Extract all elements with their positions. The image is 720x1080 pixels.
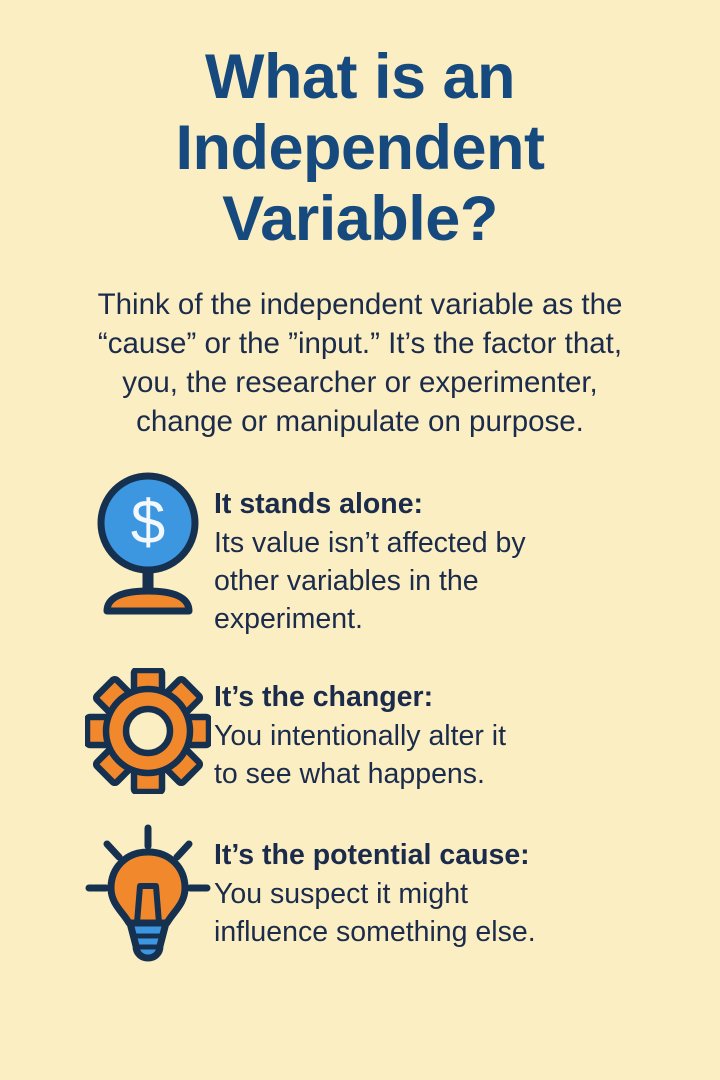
svg-text:$: $ [131,489,165,558]
bullet-body-line: You suspect it might [214,875,700,913]
bullet-body-line: other variables in the [214,562,700,600]
infographic-poster: What is an Independent Variable? Think o… [0,0,720,1080]
list-item: It’s the potential cause: You suspect it… [0,824,720,966]
lightbulb-icon [82,824,214,966]
intro-line-3: you, the researcher or experimenter, [44,363,676,402]
intro-paragraph: Think of the independent variable as the… [0,285,720,441]
title-line-3: Variable? [0,184,720,255]
bullet-heading: It’s the potential cause: [214,836,700,874]
intro-line-1: Think of the independent variable as the [44,285,676,324]
dollar-sign-stand-icon: $ [82,471,214,623]
list-item: $ It stands alone: Its value isn’t affec… [0,471,720,638]
intro-line-2: “cause” or the ”input.” It’s the factor … [44,324,676,363]
bullet-body-line: Its value isn’t affected by [214,524,700,562]
bullet-body-line: You intentionally alter it [214,717,700,755]
title-line-1: What is an [0,42,720,113]
list-item: It’s the changer: You intentionally alte… [0,668,720,794]
page-title: What is an Independent Variable? [0,0,720,255]
bullet-body-line: influence something else. [214,913,700,951]
intro-line-4: change or manipulate on purpose. [44,402,676,441]
bullet-body-line: to see what happens. [214,755,700,793]
list-item-text: It’s the changer: You intentionally alte… [214,668,720,793]
title-line-2: Independent [0,113,720,184]
bullet-body-line: experiment. [214,600,700,638]
gear-icon [82,668,214,794]
bullet-list: $ It stands alone: Its value isn’t affec… [0,471,720,966]
bullet-heading: It stands alone: [214,485,700,523]
bullet-heading: It’s the changer: [214,678,700,716]
list-item-text: It stands alone: Its value isn’t affecte… [214,471,720,638]
list-item-text: It’s the potential cause: You suspect it… [214,824,720,951]
